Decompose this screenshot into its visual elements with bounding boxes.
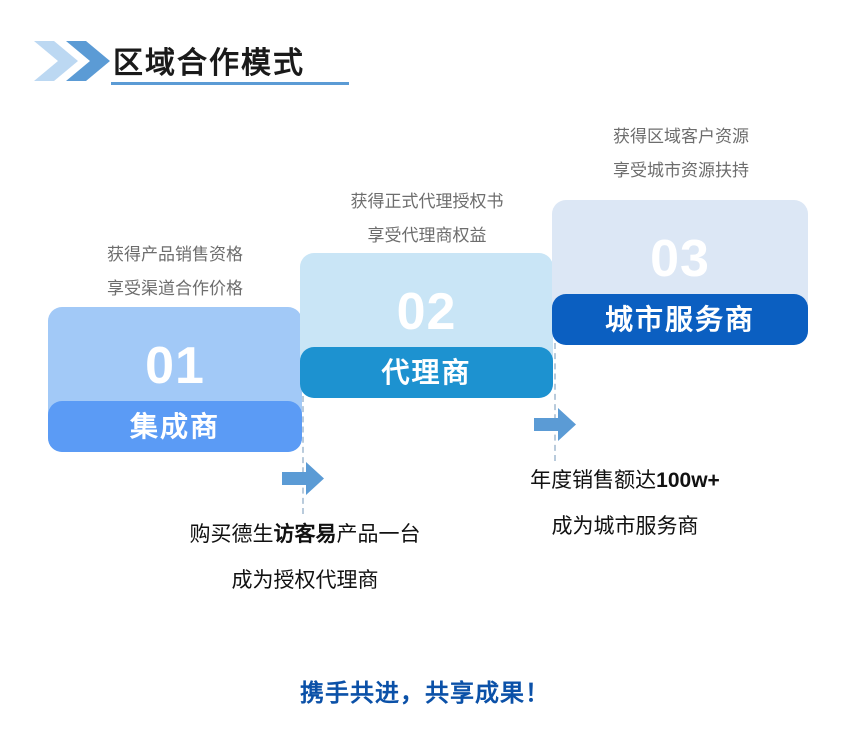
benefits-step-03: 获得区域客户资源 享受城市资源扶持 [552,120,810,188]
benefit-line: 获得正式代理授权书 [298,185,556,219]
page-header: 区域合作模式 [0,0,850,100]
step-role-label: 集成商 [130,413,220,441]
step-card-02-label-bar: 代理商 [300,347,553,398]
right-arrow-icon [534,408,576,441]
benefit-line: 享受代理商权益 [298,219,556,253]
right-arrow-icon [282,462,324,495]
step-card-03[interactable]: 03 城市服务商 [552,200,808,345]
connector-line-01 [302,396,304,514]
step-card-01-label-bar: 集成商 [48,401,302,452]
step-number: 01 [145,340,205,392]
benefits-step-01: 获得产品销售资格 享受渠道合作价格 [48,238,302,306]
requirement-prefix: 年度销售额达 [530,469,656,492]
transition-requirement-02: 年度销售额达100w+ 成为城市服务商 [430,458,820,550]
step-card-02[interactable]: 02 代理商 [300,253,553,398]
step-card-03-label-bar: 城市服务商 [552,294,808,345]
requirement-suffix: 产品一台 [337,523,421,546]
step-role-label: 代理商 [381,359,471,387]
requirement-highlight: 访客易 [274,523,337,546]
connector-line-02 [554,343,556,461]
benefit-line: 获得产品销售资格 [48,238,302,272]
benefit-line: 获得区域客户资源 [552,120,810,154]
benefits-step-02: 获得正式代理授权书 享受代理商权益 [298,185,556,253]
step-number: 02 [397,286,457,338]
step-number: 03 [650,233,710,285]
requirement-line-2: 成为授权代理商 [110,558,500,604]
page-title: 区域合作模式 [113,38,305,82]
step-role-label: 城市服务商 [605,306,755,334]
double-chevron-icon [34,41,112,81]
benefit-line: 享受渠道合作价格 [48,272,302,306]
footer-slogan: 携手共进，共享成果！ [0,673,850,708]
requirement-line-1: 年度销售额达100w+ [430,458,820,504]
requirement-highlight: 100w+ [656,469,720,492]
requirement-prefix: 购买德生 [190,523,274,546]
step-card-01[interactable]: 01 集成商 [48,307,302,452]
title-underline [111,82,349,85]
benefit-line: 享受城市资源扶持 [552,154,810,188]
requirement-line-2: 成为城市服务商 [430,504,820,550]
